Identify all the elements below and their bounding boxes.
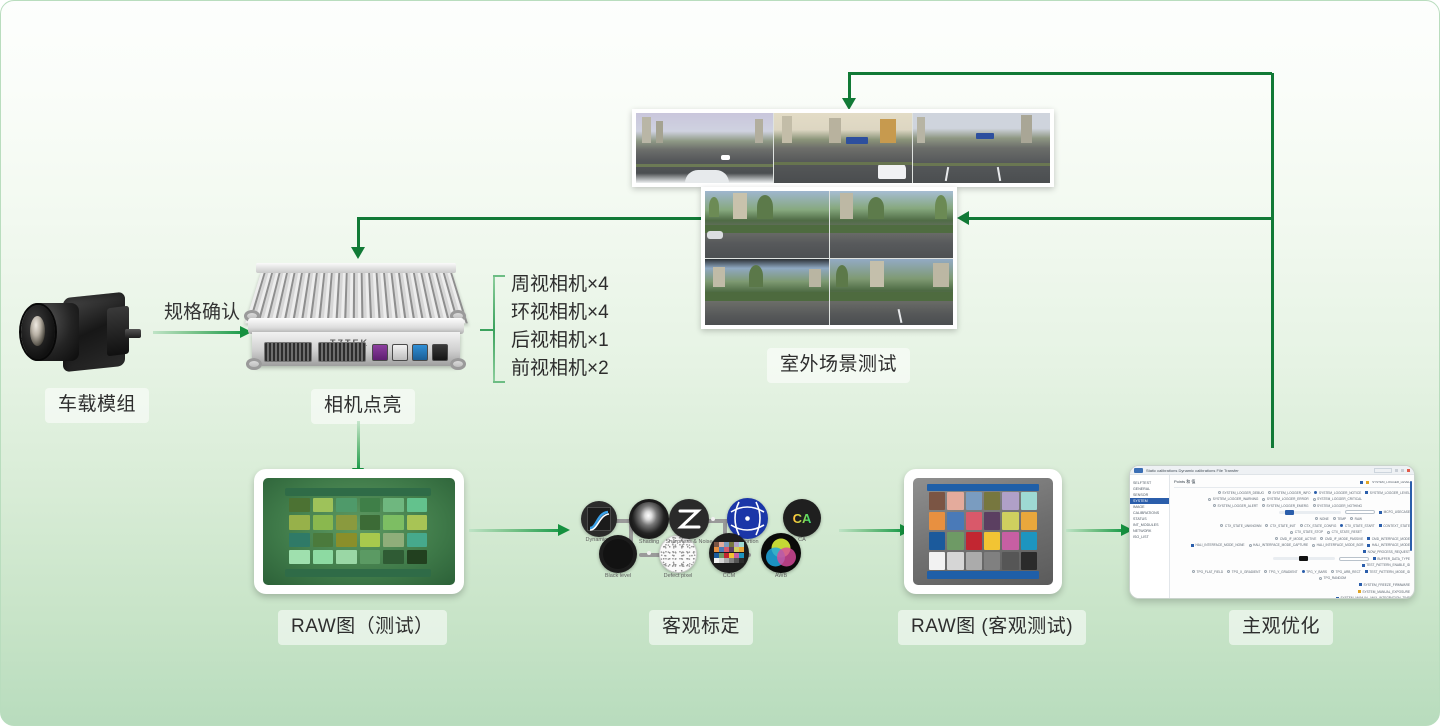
ca-caption: CA — [779, 537, 825, 543]
spec-confirm-arrow — [153, 331, 241, 334]
param-name: TEST_PATTERN_MODE_ID — [1365, 570, 1410, 574]
patch — [929, 552, 945, 570]
sharpness-noise-caption: Sharpness & Noise — [663, 539, 715, 545]
outdoor-test-label: 室外场景测试 — [767, 348, 910, 383]
raw-test-colorchecker — [289, 498, 427, 564]
param-row[interactable]: SYSTEM_LOGGER_WARNING SYSTEM_LOGGER_ERRO… — [1174, 497, 1410, 501]
option[interactable]: RAW — [1350, 517, 1362, 521]
patch — [383, 550, 404, 564]
option[interactable]: CTX_STATE_START — [1340, 524, 1374, 528]
patch — [984, 532, 1000, 550]
option[interactable]: SYSTEM_LOGGER_EMERG — [1262, 504, 1308, 508]
option[interactable]: TPG_Y_BARS — [1302, 570, 1327, 574]
option[interactable]: HALI_INTERFACE_MODE_NONE — [1191, 543, 1245, 547]
camera-module-icon — [21, 289, 151, 379]
feedback-arrow-left — [351, 247, 365, 259]
tuning-software-window[interactable]: Static calibrations Dynamic calibrations… — [1129, 465, 1415, 599]
patch — [407, 498, 428, 512]
window-sidebar[interactable]: SELFTEST GENERAL SENSOR SYSTEM IMAGE CAL… — [1130, 475, 1170, 598]
patch — [929, 532, 945, 550]
ccm-caption: CCM — [705, 573, 753, 579]
param-name: CONTEXT_STATE — [1379, 524, 1410, 528]
patch — [289, 498, 310, 512]
panel-header: Points 和 值 SYSTEM_LOGGER_LEVEL — [1174, 479, 1410, 488]
titlebar-chip-icon — [1134, 468, 1143, 473]
feedback-line-top-drop — [848, 72, 851, 100]
ecu-to-raw-arrow — [357, 421, 360, 469]
patch — [360, 498, 381, 512]
param-row[interactable]: CTX_STATE_STOP CTX_STATE_RESET — [1174, 530, 1410, 534]
option[interactable]: SYSTEM_LOGGER_DEBUG — [1218, 491, 1264, 495]
close-button[interactable] — [1407, 469, 1410, 472]
patch — [383, 515, 404, 529]
camera-count-item-1: 环视相机×4 — [511, 299, 609, 327]
param-row[interactable]: SYSTEM_MANUAL_MAX_INTEGRATION_TIME — [1174, 596, 1410, 599]
option[interactable]: SYSTEM_LOGGER_NOTHING — [1313, 504, 1363, 508]
patch — [1021, 552, 1037, 570]
param-row[interactable]: TPG_FLAT_FIELD TPG_X_GRADIENT TPG_Y_GRAD… — [1174, 570, 1410, 574]
shading-icon — [629, 499, 669, 539]
value-slider[interactable] — [1273, 557, 1335, 560]
feedback-arrow-middle — [957, 211, 969, 225]
patch — [360, 550, 381, 564]
minimize-button[interactable] — [1395, 469, 1398, 472]
road-view-front-center — [774, 113, 911, 183]
patch — [313, 550, 334, 564]
outdoor-panel-top — [632, 109, 1054, 187]
patch — [407, 550, 428, 564]
option[interactable]: SYSTEM_LOGGER_NOTICE — [1314, 491, 1361, 495]
patch — [966, 512, 982, 530]
param-name: BUFFER_DATA_TYPE — [1373, 557, 1410, 561]
patch — [336, 533, 357, 547]
option[interactable]: CTX_STATE_CONFIG — [1300, 524, 1337, 528]
patch — [289, 533, 310, 547]
option[interactable]: TPG_FLAT_FIELD — [1192, 570, 1223, 574]
patch — [966, 492, 982, 510]
value-slider[interactable] — [1279, 511, 1341, 514]
camera-module-label: 车载模组 — [45, 388, 149, 423]
header-icon-a[interactable] — [1360, 481, 1363, 484]
spec-confirm-label: 规格确认 — [164, 297, 240, 324]
camera-count-item-2: 后视相机×1 — [511, 327, 609, 355]
option[interactable]: HALI_INTERFACE_MODE_CAPTURE — [1249, 543, 1309, 547]
option[interactable]: CTX_STATE_INIT — [1265, 524, 1295, 528]
param-row[interactable]: TPG_RANDOM — [1174, 576, 1410, 580]
param-row[interactable]: SYSTEM_LOGGER_ALERT SYSTEM_LOGGER_EMERG … — [1174, 504, 1410, 508]
option[interactable]: TPG_ARB_RECT — [1331, 570, 1361, 574]
patch — [947, 492, 963, 510]
black-level-icon — [599, 535, 637, 573]
param-name: SYSTEM_MANUAL_MAX_INTEGRATION_TIME — [1336, 596, 1410, 599]
patch — [929, 492, 945, 510]
option[interactable]: NONE — [1315, 517, 1329, 521]
param-row[interactable]: CMD_IF_MODE_ACTIVE CMD_IF_MODE_PASSIVE C… — [1174, 537, 1410, 541]
option[interactable]: TEMP — [1333, 517, 1346, 521]
patch — [929, 512, 945, 530]
option[interactable]: TPG_Y_GRADIENT — [1264, 570, 1297, 574]
road-view-surround-br — [830, 259, 954, 326]
patch — [1021, 532, 1037, 550]
ecu-device-icon: TZTEK — [244, 266, 472, 376]
sharpness-noise-icon — [669, 499, 709, 539]
road-view-front-right — [913, 113, 1050, 183]
patch — [966, 552, 982, 570]
patch — [1002, 512, 1018, 530]
patch — [947, 532, 963, 550]
value-field[interactable] — [1345, 510, 1375, 514]
patch — [1002, 492, 1018, 510]
calibration-label: 客观标定 — [649, 610, 753, 645]
outdoor-panel-bottom — [701, 187, 957, 329]
slider-row[interactable]: MCFG_USECASE — [1174, 510, 1410, 514]
defect-pixel-caption: Defect pixel — [654, 573, 702, 579]
param-row[interactable]: SYSTEM_LOGGER_DEBUG SYSTEM_LOGGER_INFO S… — [1174, 491, 1410, 495]
param-row[interactable]: SYSTEM_MANUAL_EXPOSURE — [1174, 590, 1410, 594]
option[interactable]: SYSTEM_LOGGER_WARNING — [1208, 497, 1258, 501]
subjective-label: 主观优化 — [1229, 610, 1333, 645]
patch — [1021, 512, 1037, 530]
option[interactable]: SYSTEM_LOGGER_ALERT — [1213, 504, 1258, 508]
road-view-surround-bl — [705, 259, 829, 326]
window-title: Static calibrations Dynamic calibrations… — [1146, 468, 1239, 473]
feedback-line-middle-left — [357, 217, 702, 220]
patch — [947, 512, 963, 530]
param-row[interactable]: SYSTEM_FREEZE_FIRMWARE — [1174, 583, 1410, 587]
param-name: SYSTEM_MANUAL_EXPOSURE — [1358, 590, 1410, 594]
sidebar-item-iso-list[interactable]: ISO_LIST — [1130, 534, 1169, 540]
patch — [966, 532, 982, 550]
raw-test-monitor — [254, 469, 464, 594]
option[interactable]: CTX_STATE_RESET — [1327, 530, 1362, 534]
camera-count-item-0: 周视相机×4 — [511, 271, 609, 299]
patch — [407, 533, 428, 547]
option[interactable]: SYSTEM_LOGGER_INFO — [1268, 491, 1310, 495]
patch — [313, 533, 334, 547]
param-name: MCFG_USECASE — [1379, 510, 1410, 514]
patch — [313, 515, 334, 529]
patch — [289, 550, 310, 564]
feedback-line-right-trunk — [1271, 73, 1274, 448]
ecu-label: 相机点亮 — [311, 389, 415, 424]
param-row[interactable]: TEST_PATTERN_ENABLE_ID — [1174, 563, 1410, 567]
feedback-line-middle-right — [969, 217, 1272, 220]
feedback-line-top — [848, 72, 1272, 75]
patch — [336, 515, 357, 529]
raw-objective-colorchecker — [929, 492, 1037, 570]
patch — [1002, 532, 1018, 550]
camera-count-list: 周视相机×4 环视相机×4 后视相机×1 前视相机×2 — [511, 271, 609, 383]
param-name: NOW_PROCESS_REQUEST — [1363, 550, 1410, 554]
option[interactable]: CMD_IF_MODE_PASSIVE — [1320, 537, 1363, 541]
patch — [383, 533, 404, 547]
patch — [336, 550, 357, 564]
raw-objective-monitor — [904, 469, 1062, 594]
header-icon-b[interactable] — [1366, 481, 1369, 484]
road-view-front-left — [636, 113, 773, 183]
dynamic-range-icon — [581, 501, 617, 537]
param-row[interactable]: NONE TEMP RAW — [1174, 517, 1410, 521]
param-row[interactable]: CTX_STATE_UNKNOWN CTX_STATE_INIT CTX_STA… — [1174, 524, 1410, 528]
raw-to-calibration-arrow — [469, 529, 559, 532]
option[interactable]: SYSTEM_LOGGER_ERROR — [1262, 497, 1308, 501]
vertical-scrollbar[interactable] — [1410, 481, 1412, 551]
raw-test-label: RAW图（测试） — [278, 610, 447, 645]
patch — [984, 512, 1000, 530]
param-name: HALI_INTERFACE_MODE — [1367, 543, 1410, 547]
option[interactable]: SYSTEM_LOGGER_CRITICAL — [1313, 497, 1362, 501]
black-level-caption: Black level — [594, 573, 642, 579]
patch — [360, 515, 381, 529]
option[interactable]: TPG_X_GRADIENT — [1227, 570, 1260, 574]
option[interactable]: TPG_RANDOM — [1319, 576, 1346, 580]
patch — [336, 498, 357, 512]
patch — [383, 498, 404, 512]
option[interactable]: CTX_STATE_STOP — [1290, 530, 1323, 534]
camera-count-item-3: 前视相机×2 — [511, 355, 609, 383]
calibration-cluster: Dynamic R Shading Black level Defect pix… — [571, 491, 831, 576]
param-name: TEST_PATTERN_ENABLE_ID — [1362, 563, 1410, 567]
param-row[interactable]: NOW_PROCESS_REQUEST — [1174, 550, 1410, 554]
ca-icon: CA — [783, 499, 821, 537]
window-main-panel: Points 和 值 SYSTEM_LOGGER_LEVEL SYSTEM_LO… — [1170, 475, 1414, 598]
patch — [984, 552, 1000, 570]
patch — [1002, 552, 1018, 570]
param-name: SYSTEM_LOGGER_LEVEL — [1365, 491, 1410, 495]
param-row[interactable]: HALI_INTERFACE_MODE_NONE HALI_INTERFACE_… — [1174, 543, 1410, 547]
raw-objective-to-subjective-arrow — [1066, 529, 1122, 532]
maximize-button[interactable] — [1401, 469, 1404, 472]
patch — [947, 552, 963, 570]
titlebar-field[interactable] — [1374, 468, 1392, 473]
road-view-surround-tr — [830, 191, 954, 258]
patch — [360, 533, 381, 547]
option[interactable]: CTX_STATE_UNKNOWN — [1220, 524, 1261, 528]
awb-caption: AWB — [757, 573, 805, 579]
patch — [313, 498, 334, 512]
patch — [1021, 492, 1037, 510]
header-param-label: SYSTEM_LOGGER_LEVEL — [1372, 480, 1410, 484]
value-field[interactable] — [1339, 557, 1369, 561]
ccm-icon — [709, 533, 749, 573]
feedback-line-left-drop — [357, 217, 360, 249]
patch — [984, 492, 1000, 510]
slider-row[interactable]: BUFFER_DATA_TYPE — [1174, 557, 1410, 561]
road-view-surround-tl — [705, 191, 829, 258]
option[interactable]: HALI_INTERFACE_MODE_BGR — [1312, 543, 1363, 547]
raw-objective-label: RAW图 (客观测试) — [898, 610, 1086, 645]
calibration-to-raw-objective-arrow — [839, 529, 901, 532]
option[interactable]: CMD_IF_MODE_ACTIVE — [1275, 537, 1316, 541]
patch — [289, 515, 310, 529]
param-name: CMD_INTERFACE_MODE — [1367, 537, 1410, 541]
diagram-canvas: 室外场景测试 车载模组 规格确认 TZTEK 相机点亮 周视相机×4 — [0, 0, 1440, 726]
patch — [407, 515, 428, 529]
panel-header-title: Points 和 值 — [1174, 479, 1195, 485]
window-title-bar: Static calibrations Dynamic calibrations… — [1130, 466, 1414, 475]
param-name: SYSTEM_FREEZE_FIRMWARE — [1359, 583, 1410, 587]
